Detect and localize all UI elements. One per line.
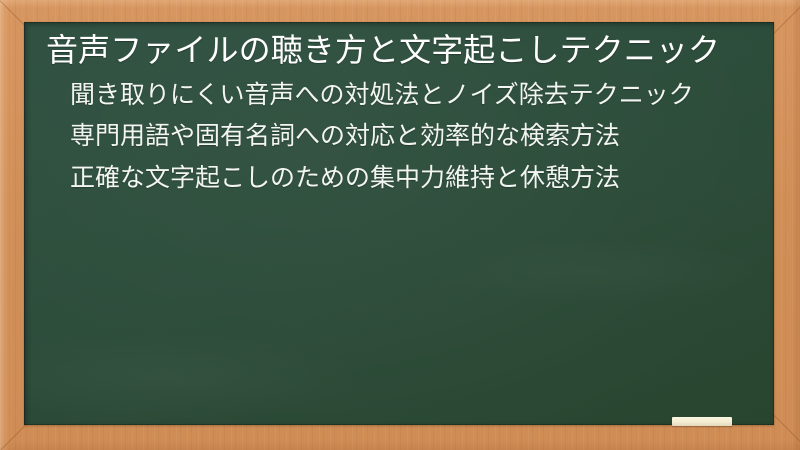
slide-content: 音声ファイルの聴き方と文字起こしテクニック 聞き取りにくい音声への対処法とノイズ…: [24, 22, 774, 203]
bullet-item-1: 聞き取りにくい音声への対処法とノイズ除去テクニック: [70, 79, 746, 112]
bullet-item-2: 専門用語や固有名詞への対応と効率的な検索方法: [70, 120, 746, 153]
chalkboard-slide: 音声ファイルの聴き方と文字起こしテクニック 聞き取りにくい音声への対処法とノイズ…: [0, 0, 800, 450]
bullet-item-3: 正確な文字起こしのための集中力維持と休憩方法: [70, 162, 746, 195]
slide-bullet-list: 聞き取りにくい音声への対処法とノイズ除去テクニック 専門用語や固有名詞への対応と…: [34, 79, 756, 195]
slide-title: 音声ファイルの聴き方と文字起こしテクニック: [34, 30, 756, 71]
chalk-stick-icon: [672, 417, 732, 426]
chalkboard-surface: 音声ファイルの聴き方と文字起こしテクニック 聞き取りにくい音声への対処法とノイズ…: [24, 22, 774, 425]
